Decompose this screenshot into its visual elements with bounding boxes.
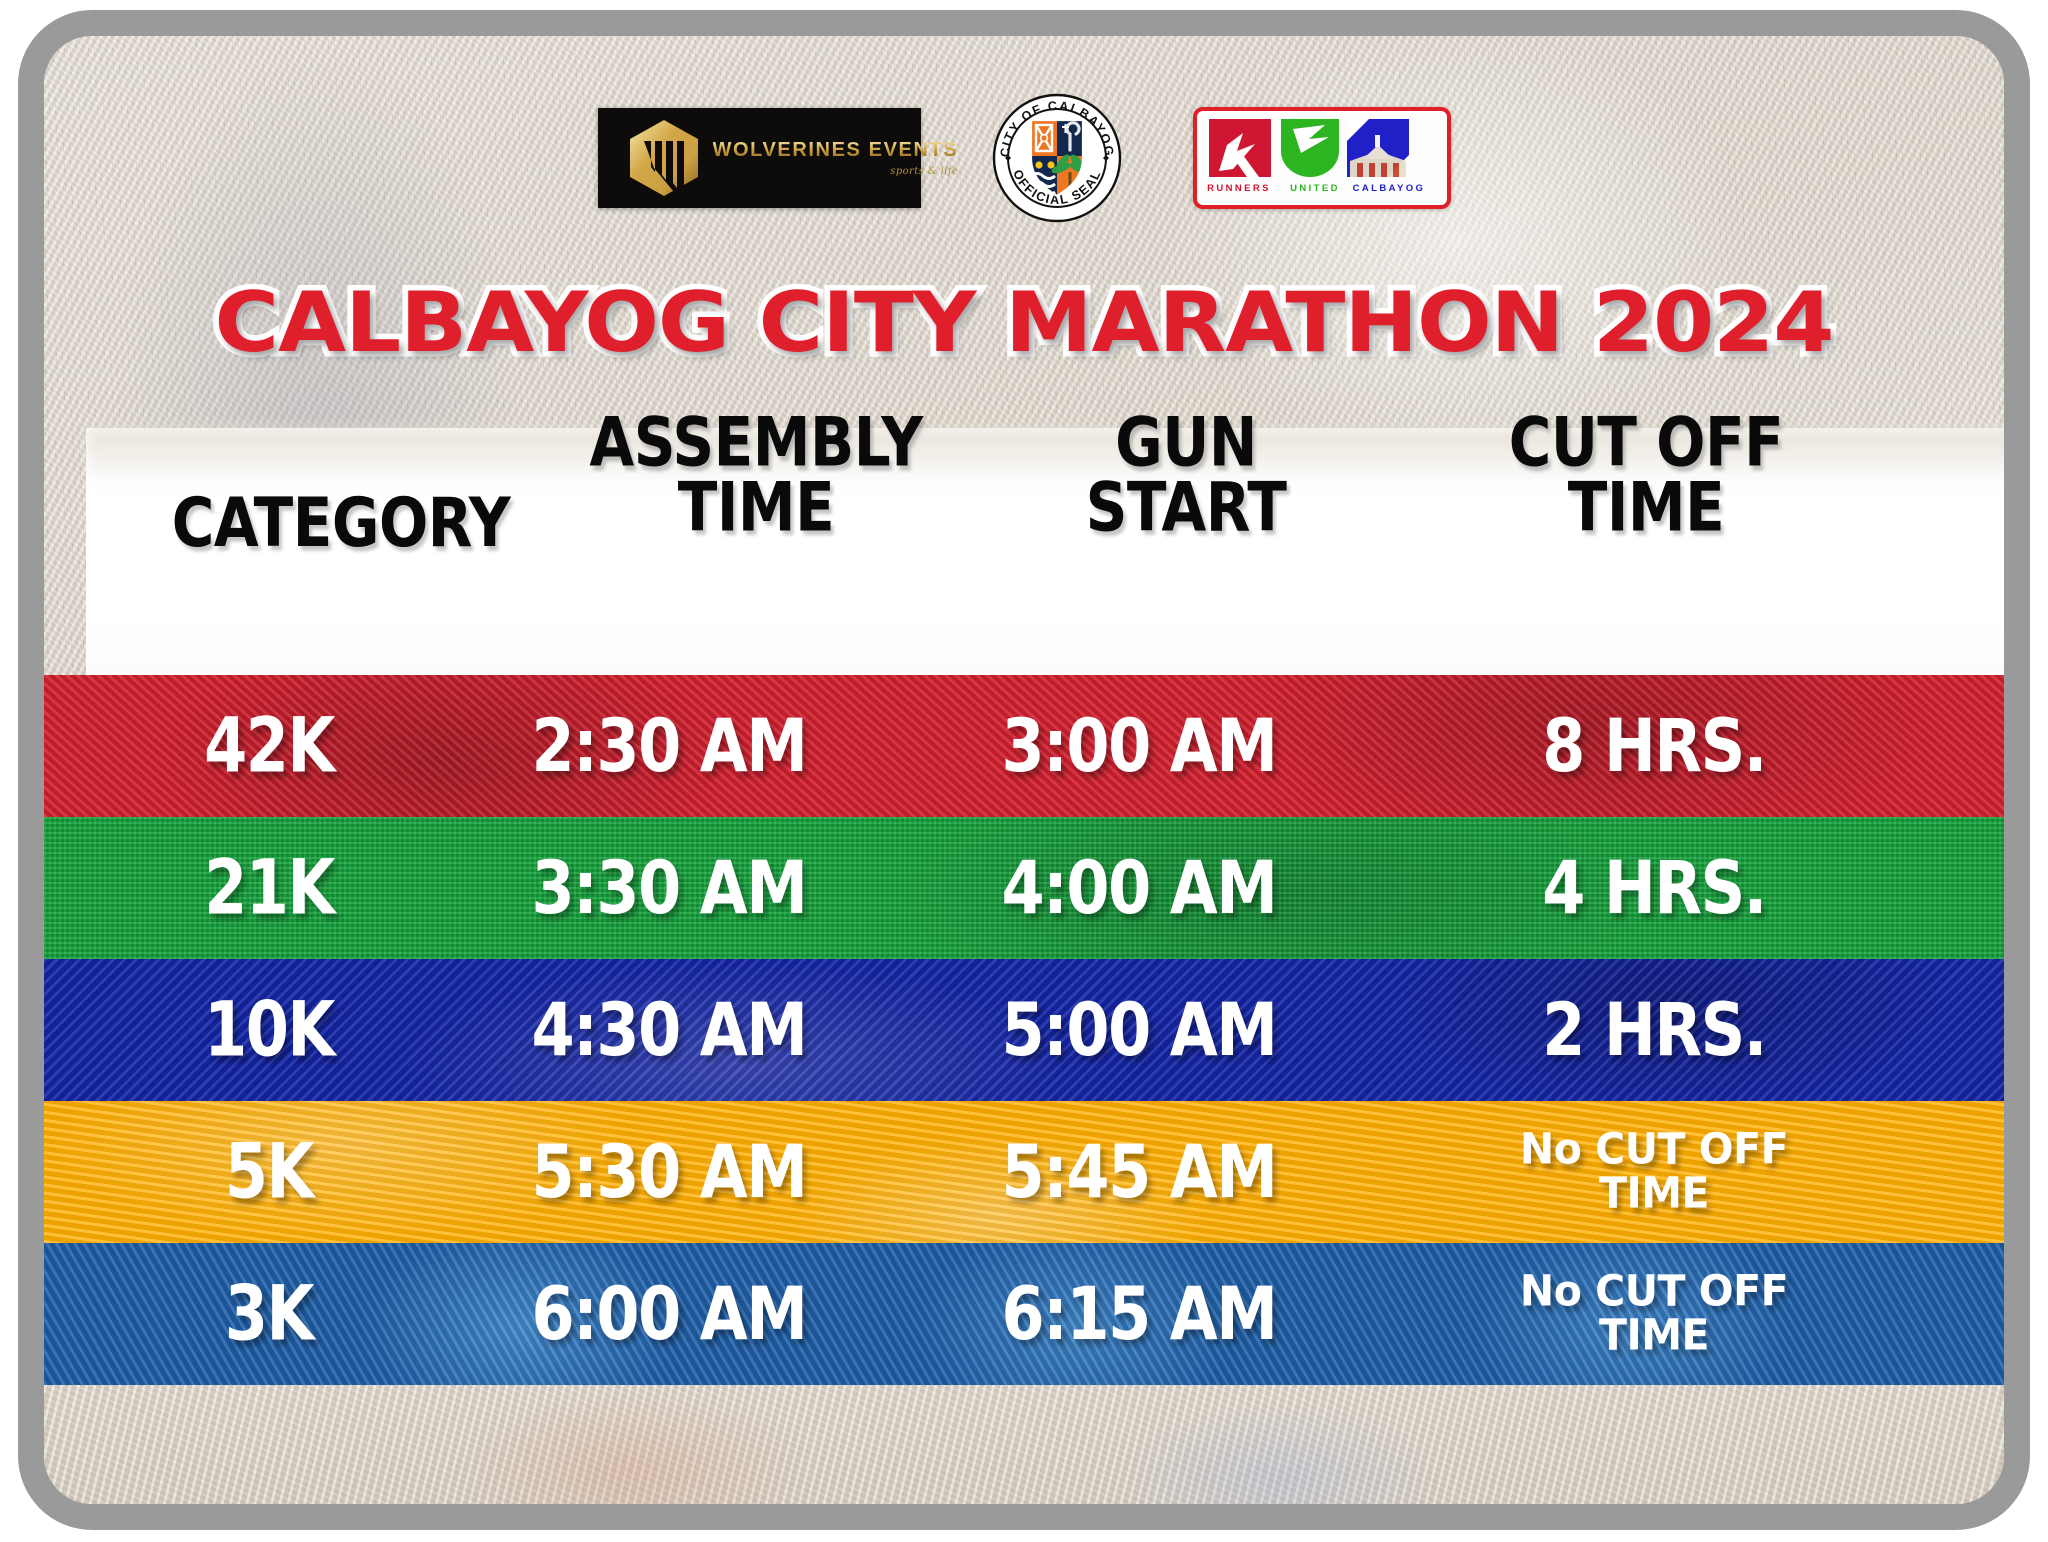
gun-header-line1: GUN: [986, 411, 1386, 476]
cell-category: 5K: [104, 1101, 434, 1243]
assembly-header-line1: ASSEMBLY: [526, 411, 986, 476]
column-header-cut-off-time: CUT OFF TIME: [1386, 411, 1906, 540]
table-row: 10K4:30 AM5:00 AM2 HRS.: [44, 959, 2029, 1101]
column-header-category: CATEGORY: [146, 492, 536, 557]
wolverines-events-logo: WOLVERINES EVENTS sports & life: [598, 108, 921, 208]
cell-cut-off-time: 8 HRS.: [1374, 675, 1934, 817]
cell-gun-start: 5:45 AM: [904, 1101, 1374, 1243]
cell-assembly-time: 4:30 AM: [434, 959, 904, 1101]
cut-off-line2: TIME: [1599, 1314, 1709, 1358]
cell-assembly-time: 3:30 AM: [434, 817, 904, 959]
cell-gun-start: 5:00 AM: [904, 959, 1374, 1101]
schedule-table: 42K2:30 AM3:00 AM8 HRS.21K3:30 AM4:00 AM…: [44, 675, 2029, 1385]
cell-gun-start: 6:15 AM: [904, 1243, 1374, 1385]
runners-united-calbayog-logo: RUNNERS UNITED CALBAYOG: [1193, 107, 1451, 209]
cell-gun-start: 3:00 AM: [904, 675, 1374, 817]
cell-category: 10K: [104, 959, 434, 1101]
cell-category: 3K: [104, 1243, 434, 1385]
poster-root: WOLVERINES EVENTS sports & life: [0, 0, 2048, 1542]
cell-cut-off-time: 4 HRS.: [1374, 817, 1934, 959]
cut-off-line1: No CUT OFF: [1520, 1270, 1788, 1314]
wolverines-wordmark: WOLVERINES EVENTS sports & life: [713, 140, 959, 177]
table-row: 21K3:30 AM4:00 AM4 HRS.: [44, 817, 2029, 959]
table-row: 3K6:00 AM6:15 AMNo CUT OFFTIME: [44, 1243, 2029, 1385]
cell-cut-off-time: 2 HRS.: [1374, 959, 1934, 1101]
wolverines-tagline: sports & life: [713, 167, 959, 177]
assembly-header-line2: TIME: [526, 476, 986, 541]
svg-text:CALBAYOG: CALBAYOG: [1352, 183, 1425, 194]
column-header-assembly-time: ASSEMBLY TIME: [526, 411, 986, 540]
bottom-stone-strip: [44, 1385, 2004, 1530]
cell-category: 42K: [104, 675, 434, 817]
cell-gun-start: 4:00 AM: [904, 817, 1374, 959]
cut-off-line2: TIME: [1599, 1172, 1709, 1216]
gun-header-line2: START: [986, 476, 1386, 541]
svg-text:UNITED: UNITED: [1290, 183, 1340, 194]
cell-cut-off-time: No CUT OFFTIME: [1374, 1101, 1934, 1243]
header-zone: WOLVERINES EVENTS sports & life: [44, 36, 2004, 428]
page-title: CALBAYOG CITY MARATHON 2024: [44, 274, 2004, 371]
wolverines-brand-name: WOLVERINES EVENTS: [713, 140, 959, 160]
table-row: 42K2:30 AM3:00 AM8 HRS.: [44, 675, 2029, 817]
cutoff-header-line1: CUT OFF: [1386, 411, 1906, 476]
wolverines-hexagon-icon: [628, 119, 700, 197]
table-row: 5K5:30 AM5:45 AMNo CUT OFFTIME: [44, 1101, 2029, 1243]
calbayog-city-seal: CITY OF CALBAYOG OFFICIAL SEAL: [991, 92, 1123, 224]
column-header-gun-start: GUN START: [986, 411, 1386, 540]
cut-off-line1: No CUT OFF: [1520, 1128, 1788, 1172]
logo-row: WOLVERINES EVENTS sports & life: [44, 92, 2004, 224]
cell-category: 21K: [104, 817, 434, 959]
poster-frame: WOLVERINES EVENTS sports & life: [18, 10, 2030, 1530]
cell-assembly-time: 5:30 AM: [434, 1101, 904, 1243]
cell-assembly-time: 6:00 AM: [434, 1243, 904, 1385]
svg-text:RUNNERS: RUNNERS: [1207, 183, 1271, 194]
cutoff-header-line2: TIME: [1386, 476, 1906, 541]
cell-cut-off-time: No CUT OFFTIME: [1374, 1243, 1934, 1385]
table-header-band: CATEGORY ASSEMBLY TIME GUN START CUT OFF…: [86, 428, 2014, 675]
cell-assembly-time: 2:30 AM: [434, 675, 904, 817]
